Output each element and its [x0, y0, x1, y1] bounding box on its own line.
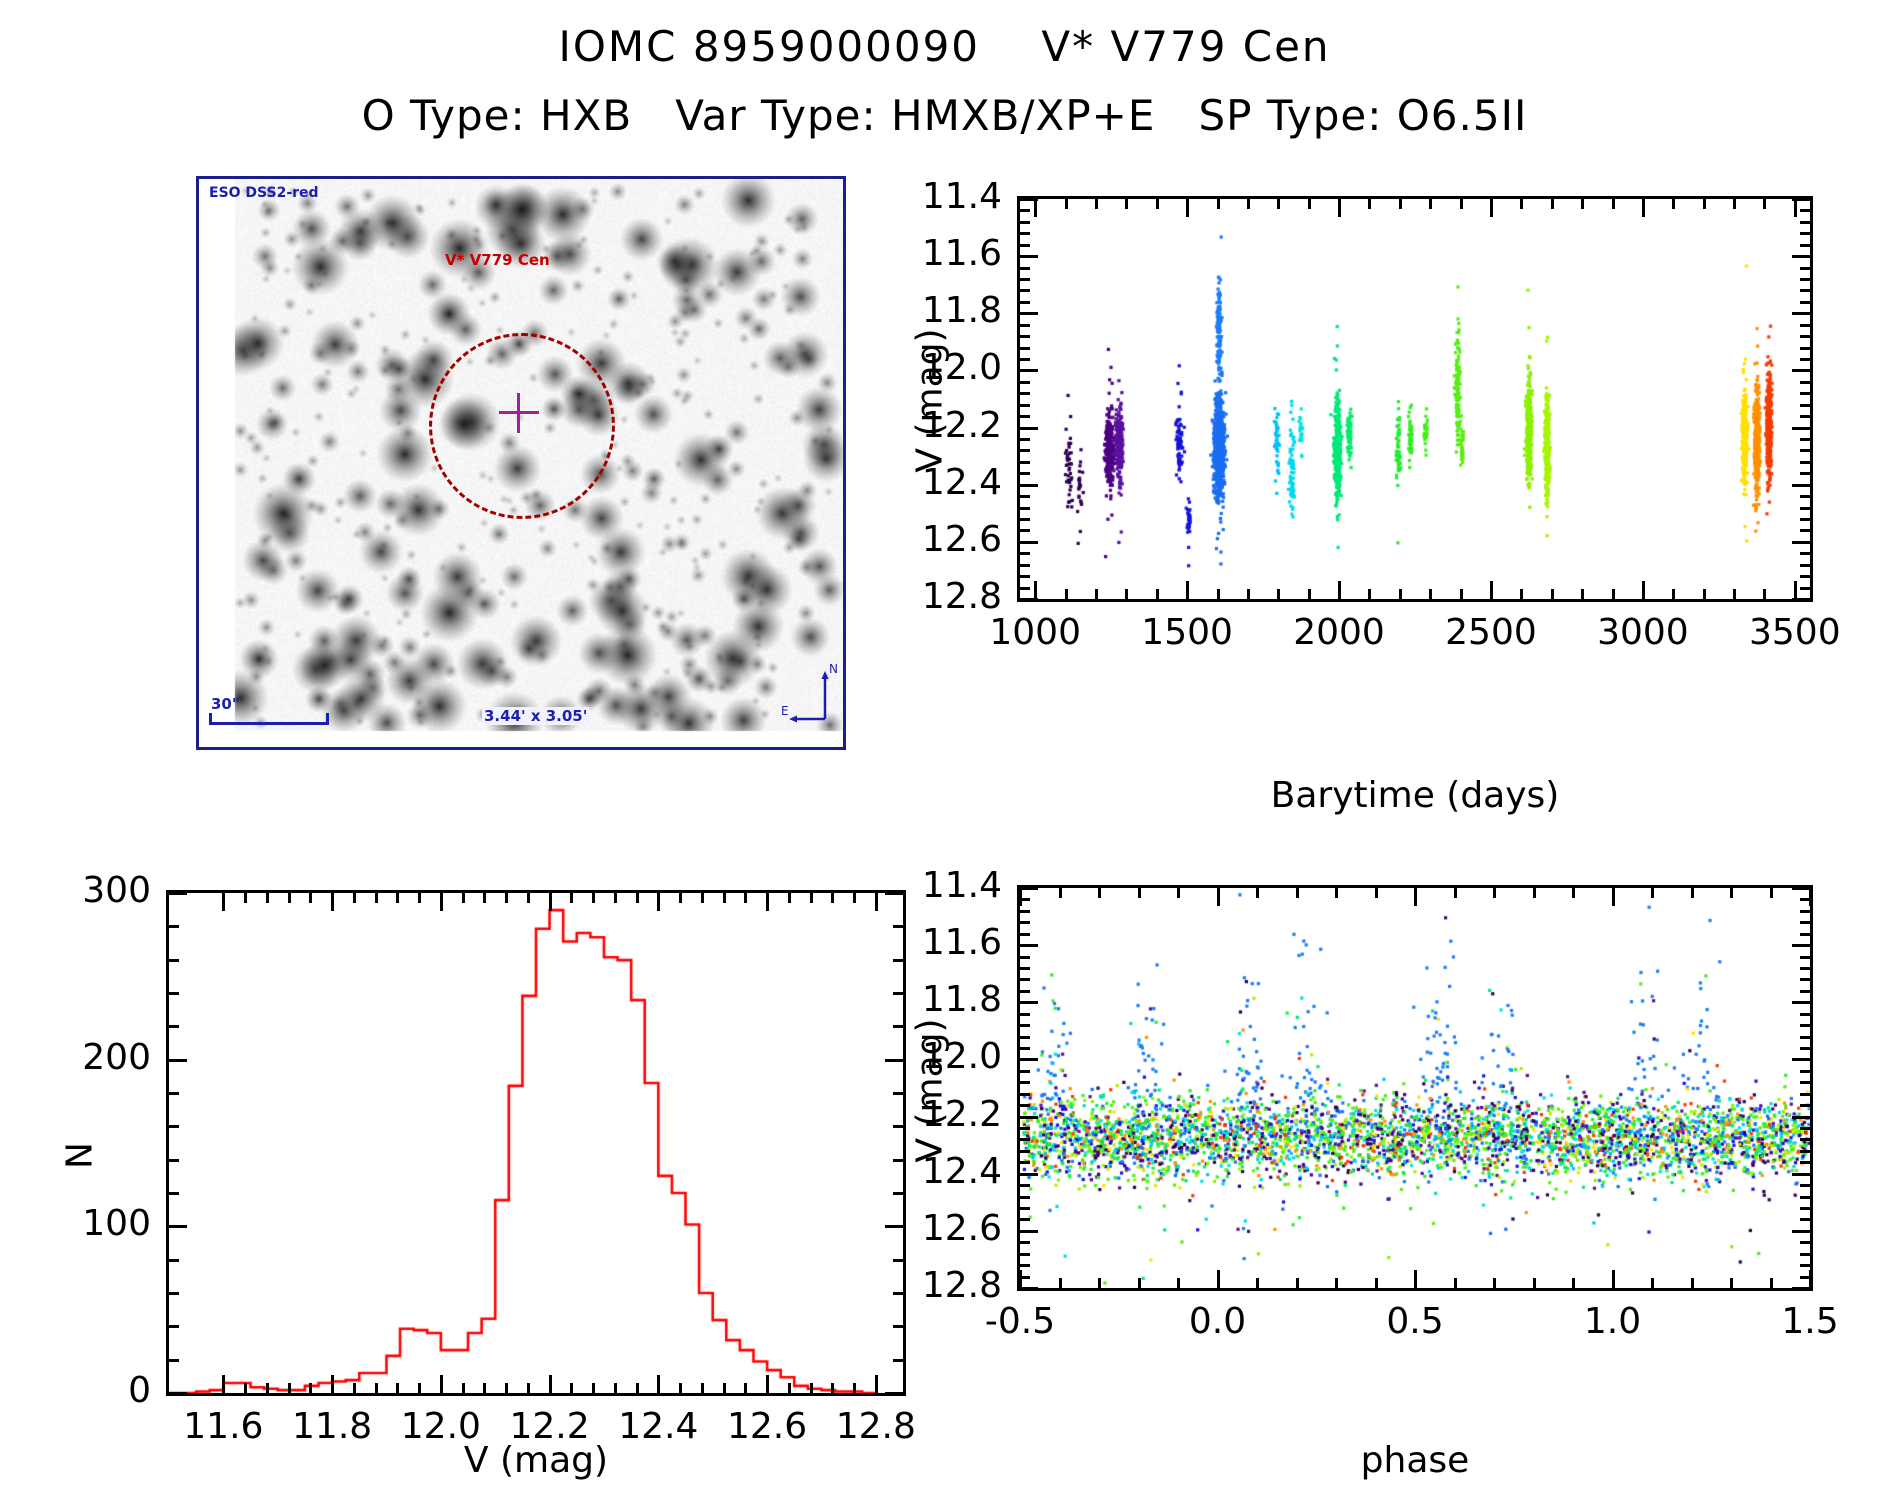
- axis-minor-tick: [1730, 1278, 1733, 1288]
- axis-minor-tick: [1177, 1278, 1180, 1288]
- axis-minor-tick: [1059, 1278, 1062, 1288]
- axis-tick-mark: [1020, 1173, 1038, 1176]
- axis-minor-tick: [1800, 1196, 1810, 1199]
- axis-tick-mark: [1414, 888, 1417, 906]
- phaseplot-scatter-canvas: [1020, 888, 1810, 1288]
- axis-minor-tick: [1020, 1138, 1030, 1141]
- axis-tick-label: 12.0: [847, 1036, 1002, 1077]
- axis-tick-label: -0.5: [940, 1301, 1100, 1342]
- axis-tick-label: 11.8: [847, 979, 1002, 1020]
- axis-tick-mark: [1809, 1270, 1812, 1288]
- axis-minor-tick: [1800, 1138, 1810, 1141]
- axis-minor-tick: [1651, 1278, 1654, 1288]
- axis-tick-mark: [1792, 1287, 1810, 1290]
- axis-minor-tick: [1375, 1278, 1378, 1288]
- axis-minor-tick: [1454, 1278, 1457, 1288]
- axis-minor-tick: [1020, 990, 1030, 993]
- axis-minor-tick: [1375, 888, 1378, 898]
- phaseplot-frame[interactable]: [1017, 885, 1813, 1291]
- axis-tick-label: 12.2: [847, 1094, 1002, 1135]
- axis-minor-tick: [1020, 910, 1030, 913]
- axis-minor-tick: [1059, 888, 1062, 898]
- axis-minor-tick: [1020, 1047, 1030, 1050]
- axis-tick-label: 0.0: [1138, 1301, 1298, 1342]
- axis-tick-mark: [1792, 944, 1810, 947]
- axis-minor-tick: [1533, 1278, 1536, 1288]
- axis-minor-tick: [1800, 910, 1810, 913]
- axis-tick-label: 12.6: [847, 1208, 1002, 1249]
- axis-tick-mark: [1792, 1116, 1810, 1119]
- axis-minor-tick: [1691, 888, 1694, 898]
- axis-minor-tick: [1800, 933, 1810, 936]
- axis-minor-tick: [1335, 888, 1338, 898]
- axis-minor-tick: [1020, 967, 1030, 970]
- axis-minor-tick: [1800, 1024, 1810, 1027]
- axis-minor-tick: [1020, 1104, 1030, 1107]
- axis-tick-mark: [1019, 1270, 1022, 1288]
- axis-minor-tick: [1800, 1047, 1810, 1050]
- axis-tick-mark: [1792, 1001, 1810, 1004]
- axis-tick-mark: [1414, 1270, 1417, 1288]
- axis-tick-mark: [1217, 1270, 1220, 1288]
- axis-minor-tick: [1296, 888, 1299, 898]
- axis-minor-tick: [1020, 1081, 1030, 1084]
- axis-minor-tick: [1800, 921, 1810, 924]
- axis-minor-tick: [1020, 1184, 1030, 1187]
- axis-tick-mark: [1020, 1116, 1038, 1119]
- axis-tick-mark: [1792, 1058, 1810, 1061]
- axis-minor-tick: [1800, 1150, 1810, 1153]
- axis-minor-tick: [1020, 1218, 1030, 1221]
- axis-tick-mark: [1809, 888, 1812, 906]
- axis-tick-label: 12.4: [847, 1151, 1002, 1192]
- axis-minor-tick: [1138, 1278, 1141, 1288]
- axis-tick-label: 0.5: [1335, 1301, 1495, 1342]
- axis-minor-tick: [1020, 1013, 1030, 1016]
- axis-minor-tick: [1800, 1241, 1810, 1244]
- axis-minor-tick: [1800, 1184, 1810, 1187]
- axis-minor-tick: [1800, 956, 1810, 959]
- axis-minor-tick: [1533, 888, 1536, 898]
- axis-minor-tick: [1770, 1278, 1773, 1288]
- axis-tick-label: 11.6: [847, 922, 1002, 963]
- axis-tick-mark: [1792, 1173, 1810, 1176]
- axis-tick-mark: [1792, 887, 1810, 890]
- axis-minor-tick: [1098, 888, 1101, 898]
- axis-minor-tick: [1800, 1264, 1810, 1267]
- axis-minor-tick: [1800, 1081, 1810, 1084]
- axis-minor-tick: [1296, 1278, 1299, 1288]
- phaseplot-panel: Pvsx = 2.0871394 days V (mag) phase 11.4…: [0, 0, 1889, 1494]
- axis-minor-tick: [1572, 888, 1575, 898]
- axis-tick-label: 1.0: [1533, 1301, 1693, 1342]
- axis-minor-tick: [1020, 1264, 1030, 1267]
- axis-tick-mark: [1612, 1270, 1615, 1288]
- axis-tick-mark: [1020, 1230, 1038, 1233]
- axis-minor-tick: [1770, 888, 1773, 898]
- axis-minor-tick: [1800, 1218, 1810, 1221]
- axis-minor-tick: [1800, 1036, 1810, 1039]
- axis-minor-tick: [1800, 990, 1810, 993]
- axis-tick-mark: [1217, 888, 1220, 906]
- axis-tick-mark: [1612, 888, 1615, 906]
- axis-minor-tick: [1020, 1253, 1030, 1256]
- axis-minor-tick: [1454, 888, 1457, 898]
- axis-minor-tick: [1256, 1278, 1259, 1288]
- axis-minor-tick: [1800, 1161, 1810, 1164]
- axis-tick-label: 12.8: [847, 1265, 1002, 1306]
- axis-minor-tick: [1800, 1207, 1810, 1210]
- axis-minor-tick: [1493, 888, 1496, 898]
- axis-minor-tick: [1138, 888, 1141, 898]
- axis-minor-tick: [1572, 1278, 1575, 1288]
- axis-minor-tick: [1020, 1196, 1030, 1199]
- axis-minor-tick: [1800, 978, 1810, 981]
- axis-minor-tick: [1177, 888, 1180, 898]
- axis-minor-tick: [1800, 1253, 1810, 1256]
- axis-minor-tick: [1020, 1241, 1030, 1244]
- axis-minor-tick: [1730, 888, 1733, 898]
- axis-tick-mark: [1020, 1001, 1038, 1004]
- axis-minor-tick: [1691, 1278, 1694, 1288]
- axis-tick-mark: [1020, 944, 1038, 947]
- axis-minor-tick: [1800, 967, 1810, 970]
- axis-minor-tick: [1020, 933, 1030, 936]
- axis-tick-label: 1.5: [1730, 1301, 1889, 1342]
- axis-minor-tick: [1020, 1036, 1030, 1039]
- phaseplot-xlabel: phase: [1017, 1440, 1813, 1481]
- axis-minor-tick: [1020, 978, 1030, 981]
- axis-minor-tick: [1020, 1150, 1030, 1153]
- axis-minor-tick: [1098, 1278, 1101, 1288]
- axis-tick-mark: [1020, 887, 1038, 890]
- axis-minor-tick: [1020, 1161, 1030, 1164]
- axis-minor-tick: [1800, 1070, 1810, 1073]
- axis-tick-label: 11.4: [847, 865, 1002, 906]
- axis-minor-tick: [1651, 888, 1654, 898]
- axis-minor-tick: [1020, 921, 1030, 924]
- axis-minor-tick: [1335, 1278, 1338, 1288]
- axis-minor-tick: [1020, 956, 1030, 959]
- axis-tick-mark: [1020, 1287, 1038, 1290]
- axis-minor-tick: [1800, 1013, 1810, 1016]
- axis-tick-mark: [1020, 1058, 1038, 1061]
- axis-minor-tick: [1020, 1207, 1030, 1210]
- axis-minor-tick: [1800, 1127, 1810, 1130]
- axis-minor-tick: [1493, 1278, 1496, 1288]
- axis-minor-tick: [1800, 1093, 1810, 1096]
- axis-minor-tick: [1800, 1104, 1810, 1107]
- axis-tick-mark: [1019, 888, 1022, 906]
- axis-minor-tick: [1256, 888, 1259, 898]
- axis-minor-tick: [1020, 1024, 1030, 1027]
- axis-minor-tick: [1020, 1070, 1030, 1073]
- axis-minor-tick: [1020, 1093, 1030, 1096]
- axis-minor-tick: [1020, 1127, 1030, 1130]
- axis-tick-mark: [1792, 1230, 1810, 1233]
